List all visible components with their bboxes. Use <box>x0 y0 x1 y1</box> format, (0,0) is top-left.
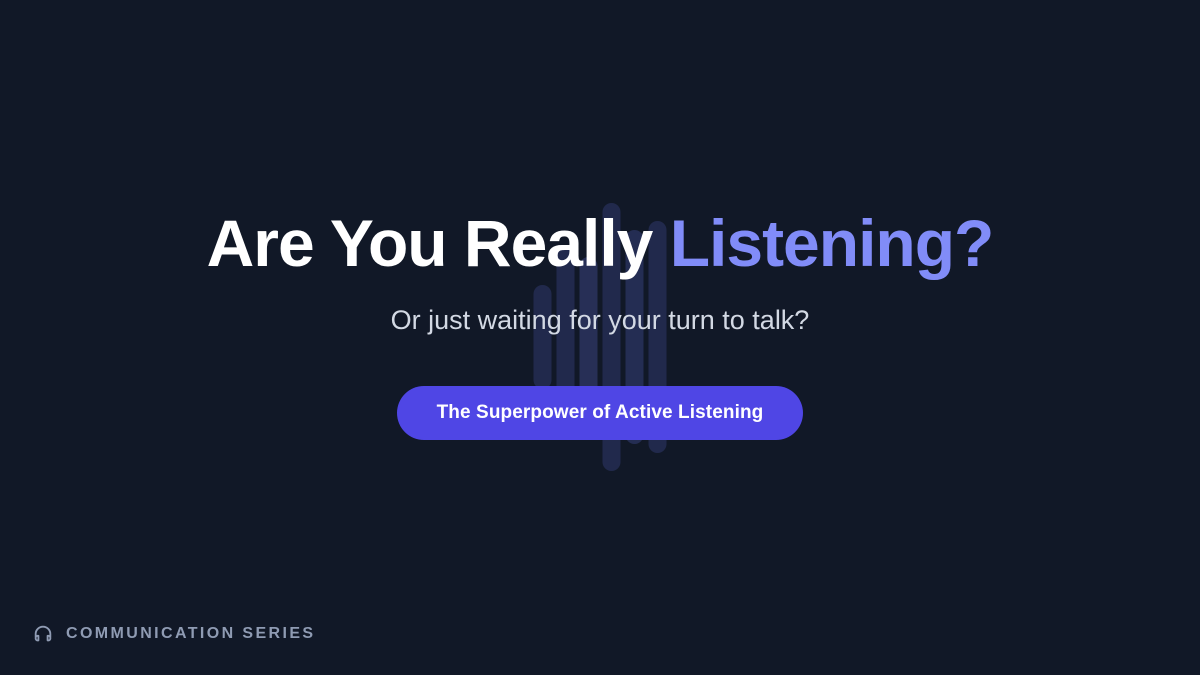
series-label: COMMUNICATION SERIES <box>66 625 315 643</box>
headline-primary: Are You Really <box>207 206 653 280</box>
cta-button[interactable]: The Superpower of Active Listening <box>397 386 804 440</box>
slide-canvas: Are You Really Listening? Or just waitin… <box>0 0 1200 675</box>
subtitle: Or just waiting for your turn to talk? <box>391 305 810 336</box>
headline-accent: Listening? <box>670 206 994 280</box>
slide-content: Are You Really Listening? Or just waitin… <box>0 0 1200 675</box>
page-title: Are You Really Listening? <box>207 209 994 278</box>
headphones-icon <box>32 623 54 645</box>
series-badge: COMMUNICATION SERIES <box>32 623 315 645</box>
